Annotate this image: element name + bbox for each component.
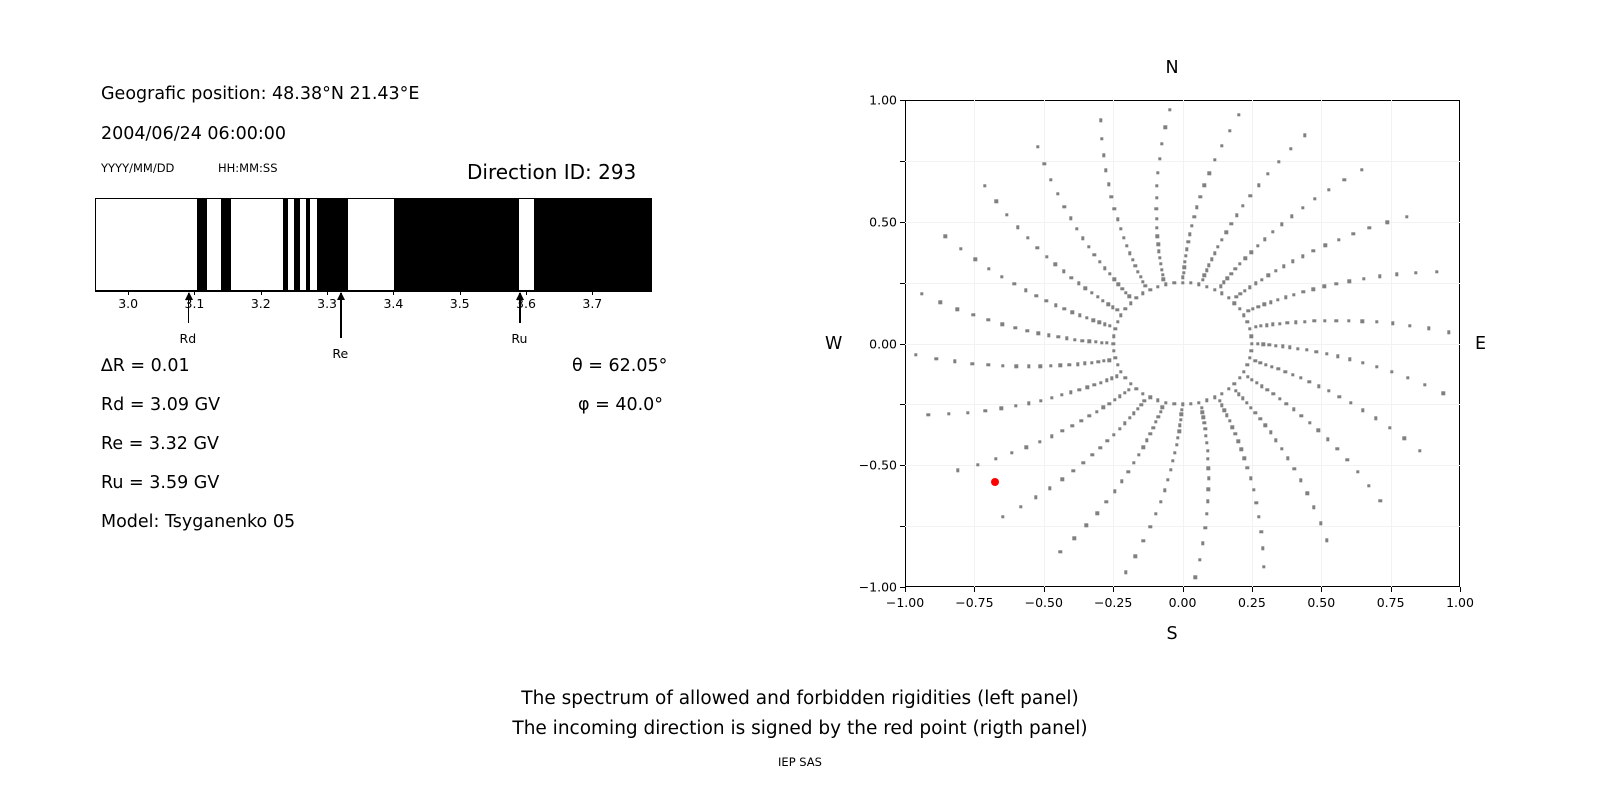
scatter-dot xyxy=(1105,379,1108,382)
scatter-dot xyxy=(1099,381,1102,384)
scatter-dot xyxy=(1127,470,1130,473)
scatter-dot xyxy=(1235,295,1238,298)
scatter-dot xyxy=(1125,244,1128,247)
scatter-dot xyxy=(1254,325,1257,328)
scatter-dot xyxy=(1278,397,1281,400)
scatter-dot xyxy=(966,411,969,414)
scatter-dot xyxy=(1100,341,1103,344)
scatter-dot xyxy=(1099,119,1102,122)
time-format-hint: HH:MM:SS xyxy=(218,161,278,175)
scatter-dot xyxy=(1142,539,1145,542)
scatter-dot xyxy=(1289,147,1292,150)
scatter-dot xyxy=(1143,284,1146,287)
scatter-dot xyxy=(1087,245,1090,248)
scatter-dot xyxy=(1281,345,1284,348)
scatter-dot xyxy=(1076,362,1079,365)
scatter-dot xyxy=(1124,307,1127,310)
scatter-dot xyxy=(1327,188,1330,191)
scatter-dot xyxy=(1164,126,1167,129)
scatter-dot xyxy=(1296,347,1299,350)
scatter-dot xyxy=(1338,395,1341,398)
compass-label-north: N xyxy=(1165,58,1178,78)
scatter-dot xyxy=(1136,407,1139,410)
scatter-dot xyxy=(1244,256,1247,259)
scatter-dot xyxy=(1106,439,1109,442)
forbidden-band xyxy=(294,199,301,290)
scatter-dot xyxy=(1103,323,1106,326)
scatter-dot xyxy=(1262,565,1265,568)
scatter-dot xyxy=(1070,276,1073,279)
scatter-dot xyxy=(1406,376,1409,379)
scatter-dot xyxy=(1202,416,1205,419)
scatter-dot xyxy=(1336,355,1339,358)
scatter-dot xyxy=(1039,365,1042,368)
scatter-dot xyxy=(1334,319,1337,322)
scatter-dot xyxy=(1227,296,1230,299)
scatter-dot xyxy=(1184,254,1187,257)
scatter-dot xyxy=(1128,295,1131,298)
scatter-dot xyxy=(1213,288,1216,291)
scatter-dot xyxy=(1161,273,1164,276)
scatter-dot xyxy=(1231,425,1234,428)
scatter-dot xyxy=(1154,420,1157,423)
scatter-dot xyxy=(1084,287,1087,290)
scatter-dot xyxy=(1335,282,1338,285)
scatter-dot xyxy=(1132,412,1135,415)
scatter-dot xyxy=(1037,331,1040,334)
scatter-dot xyxy=(1155,207,1158,210)
scatter-dot xyxy=(1260,384,1263,387)
scatter-dot xyxy=(1360,168,1363,171)
scatter-dot xyxy=(1095,512,1098,515)
scatter-dot xyxy=(1265,323,1268,326)
scatter-dot xyxy=(1201,541,1204,544)
scatter-dot xyxy=(1121,287,1124,290)
scatter-dot xyxy=(1145,438,1148,441)
scatter-dot xyxy=(1096,295,1099,298)
caption-line-1: The spectrum of allowed and forbidden ri… xyxy=(0,688,1600,709)
scatter-dot xyxy=(1098,260,1101,263)
scatter-dot xyxy=(1047,334,1050,337)
scatter-dot xyxy=(1312,506,1315,509)
scatter-dot xyxy=(1303,320,1306,323)
scatter-dot xyxy=(1228,129,1231,132)
scatter-dot xyxy=(1234,267,1237,270)
scatter-dot xyxy=(1220,144,1223,147)
scatter-dot xyxy=(1258,417,1261,420)
scatter-dot xyxy=(987,318,990,321)
y-axis-tick xyxy=(900,526,905,527)
scatter-dot xyxy=(1246,375,1249,378)
scatter-dot xyxy=(1220,238,1223,241)
scatter-dot xyxy=(1343,178,1346,181)
scatter-dot xyxy=(1201,278,1204,281)
y-axis-tick xyxy=(900,222,905,223)
scatter-dot xyxy=(1249,477,1252,480)
axis-tick-label: 3.2 xyxy=(251,296,271,311)
scatter-dot xyxy=(1094,340,1097,343)
scatter-dot xyxy=(1095,410,1098,413)
scatter-dot xyxy=(1139,403,1142,406)
scatter-dot xyxy=(1274,344,1277,347)
scatter-dot xyxy=(1013,282,1016,285)
scatter-dot xyxy=(1112,278,1115,281)
scatter-dot xyxy=(1198,558,1201,561)
scatter-dot xyxy=(1207,488,1210,491)
scatter-dot xyxy=(1169,468,1172,471)
scatter-dot xyxy=(1257,515,1260,518)
scatter-dot xyxy=(1173,451,1176,454)
scatter-dot xyxy=(943,235,946,238)
scatter-dot xyxy=(1263,237,1266,240)
scatter-dot xyxy=(1158,157,1161,160)
scatter-dot xyxy=(1156,243,1159,246)
scatter-dot xyxy=(1049,178,1052,181)
marker-arrow-ru xyxy=(519,293,520,323)
scatter-dot xyxy=(1081,339,1084,342)
scatter-dot xyxy=(1014,404,1017,407)
scatter-dot xyxy=(1367,484,1370,487)
scatter-dot xyxy=(1178,424,1181,427)
scatter-dot xyxy=(1128,416,1131,419)
scatter-dot xyxy=(1155,184,1158,187)
param-model: Model: Tsyganenko 05 xyxy=(101,512,295,532)
scatter-dot xyxy=(1128,251,1131,254)
scatter-dot xyxy=(1276,298,1279,301)
incoming-direction-point[interactable] xyxy=(991,478,999,486)
scatter-dot xyxy=(1385,221,1388,224)
scatter-dot xyxy=(1250,342,1253,345)
scatter-dot xyxy=(1346,458,1349,461)
scatter-dot xyxy=(1264,363,1267,366)
scatter-dot xyxy=(1378,275,1381,278)
scatter-dot xyxy=(1207,477,1210,480)
scatter-dot xyxy=(938,300,941,303)
scatter-dot xyxy=(1088,414,1091,417)
scatter-dot xyxy=(1206,499,1209,502)
scatter-dot xyxy=(1136,270,1139,273)
param-phi: φ = 40.0° xyxy=(578,395,663,415)
scatter-dot xyxy=(1081,236,1084,239)
scatter-dot xyxy=(1239,292,1242,295)
scatter-dot xyxy=(1048,486,1051,489)
scatter-dot xyxy=(1180,413,1183,416)
scatter-dot xyxy=(1080,419,1083,422)
scatter-dot xyxy=(1112,334,1115,337)
scatter-dot xyxy=(1268,343,1271,346)
axis-tick-label: 3.5 xyxy=(450,296,470,311)
scatter-dot xyxy=(1093,383,1096,386)
x-axis-tick-label: −0.25 xyxy=(1094,595,1132,610)
scatter-dot xyxy=(1085,524,1088,527)
scatter-dot xyxy=(1005,213,1008,216)
scatter-dot xyxy=(1141,392,1144,395)
scatter-dot xyxy=(1348,279,1351,282)
scatter-dot xyxy=(1278,322,1281,325)
scatter-dot xyxy=(1075,227,1078,230)
scatter-dot xyxy=(1155,217,1158,220)
y-axis-tick xyxy=(900,161,905,162)
scatter-dot xyxy=(1277,367,1280,370)
scatter-dot xyxy=(1045,255,1048,258)
scatter-dot xyxy=(1112,433,1115,436)
scatter-dot xyxy=(1246,466,1249,469)
scatter-dot xyxy=(1073,537,1076,540)
scatter-dot xyxy=(1283,370,1286,373)
scatter-dot xyxy=(1185,247,1188,250)
scatter-dot xyxy=(1108,324,1111,327)
scatter-dot xyxy=(1197,283,1200,286)
scatter-dot xyxy=(1078,388,1081,391)
scatter-dot xyxy=(1093,253,1096,256)
scatter-dot xyxy=(1391,322,1394,325)
scatter-dot xyxy=(1322,285,1325,288)
scatter-dot xyxy=(1134,264,1137,267)
scatter-dot xyxy=(1127,388,1130,391)
scatter-dot xyxy=(1172,402,1175,405)
scatter-dot xyxy=(927,413,930,416)
scatter-dot xyxy=(1246,320,1249,323)
scatter-dot xyxy=(1039,399,1042,402)
scatter-dot xyxy=(1097,360,1100,363)
scatter-dot xyxy=(1085,386,1088,389)
scatter-dot xyxy=(1158,256,1161,259)
forbidden-band xyxy=(317,199,348,290)
compass-label-west: W xyxy=(825,334,842,354)
x-axis-tick-label: 0.50 xyxy=(1307,595,1335,610)
scatter-dot xyxy=(1155,196,1158,199)
rigidity-axis: 3.03.13.23.33.43.53.63.7RdReRu xyxy=(95,291,652,351)
y-axis-tick xyxy=(900,100,905,101)
scatter-dot xyxy=(1188,233,1191,236)
scatter-dot xyxy=(1206,457,1209,460)
scatter-dot xyxy=(1090,361,1093,364)
scatter-dot xyxy=(1250,334,1253,337)
scatter-dot xyxy=(1152,426,1155,429)
scatter-dot xyxy=(1257,183,1260,186)
scatter-dot xyxy=(914,353,917,356)
scatter-dot xyxy=(1156,399,1159,402)
scatter-dot xyxy=(1122,236,1125,239)
scatter-dot xyxy=(1078,314,1081,317)
scatter-dot xyxy=(1175,443,1178,446)
scatter-dot xyxy=(1313,319,1316,322)
scatter-dot xyxy=(1315,350,1318,353)
scatter-dot xyxy=(1226,277,1229,280)
scatter-dot xyxy=(1218,399,1221,402)
scatter-dot xyxy=(1172,281,1175,284)
asymptotic-direction-chart: −1.00−0.500.000.501.00−1.00−0.75−0.50−0.… xyxy=(905,100,1460,587)
scatter-dot xyxy=(1272,392,1275,395)
x-axis-tick xyxy=(1252,587,1253,592)
scatter-dot xyxy=(1000,275,1003,278)
scatter-dot xyxy=(1403,437,1406,440)
forbidden-band xyxy=(197,199,207,290)
scatter-dot xyxy=(1260,278,1263,281)
scatter-dot xyxy=(1266,388,1269,391)
scatter-dot xyxy=(1010,451,1013,454)
scatter-dot xyxy=(1233,382,1236,385)
scatter-dot xyxy=(1349,401,1352,404)
scatter-dot xyxy=(1149,288,1152,291)
scatter-dot xyxy=(1323,319,1326,322)
scatter-dot xyxy=(1228,419,1231,422)
y-axis-tick-label: 0.00 xyxy=(869,336,897,351)
scatter-dot xyxy=(1206,449,1209,452)
scatter-dot xyxy=(1200,406,1203,409)
scatter-dot xyxy=(1190,224,1193,227)
scatter-dot xyxy=(1141,446,1144,449)
scatter-dot xyxy=(1068,363,1071,366)
spectrum-band-track xyxy=(95,198,652,291)
scatter-dot xyxy=(1026,329,1029,332)
scatter-dot xyxy=(1102,359,1105,362)
scatter-dot xyxy=(1062,205,1065,208)
scatter-dot xyxy=(1255,501,1258,504)
x-axis-tick xyxy=(905,587,906,592)
scatter-dot xyxy=(1220,292,1223,295)
scatter-dot xyxy=(1132,461,1135,464)
scatter-dot xyxy=(1105,341,1108,344)
scatter-dot xyxy=(973,258,976,261)
scatter-dot xyxy=(1088,340,1091,343)
scatter-dot xyxy=(1233,301,1236,304)
scatter-dot xyxy=(1071,311,1074,314)
axis-tick-label: 3.0 xyxy=(118,296,138,311)
scatter-dot xyxy=(1001,515,1004,518)
scatter-dot xyxy=(1181,403,1184,406)
scatter-dot xyxy=(1267,274,1270,277)
scatter-dot xyxy=(1085,316,1088,319)
y-axis-tick xyxy=(900,404,905,405)
scatter-dot xyxy=(1014,326,1017,329)
geographic-position-text: Geografic position: 48.38°N 21.43°E xyxy=(101,84,419,104)
scatter-dot xyxy=(1306,492,1309,495)
scatter-dot xyxy=(1259,530,1262,533)
scatter-dot xyxy=(1388,426,1391,429)
scatter-dot xyxy=(1105,500,1108,503)
scatter-dot xyxy=(1091,319,1094,322)
param-delta-r: ∆R = 0.01 xyxy=(101,356,190,376)
scatter-dot xyxy=(1111,342,1114,345)
x-axis-tick-label: 1.00 xyxy=(1446,595,1474,610)
scatter-dot xyxy=(1149,432,1152,435)
scatter-dot xyxy=(1262,343,1265,346)
scatter-dot xyxy=(1305,348,1308,351)
scatter-dot xyxy=(1362,277,1365,280)
footer-text: IEP SAS xyxy=(0,755,1600,769)
scatter-dot xyxy=(1312,249,1315,252)
scatter-dot xyxy=(1277,160,1280,163)
scatter-dot xyxy=(1197,401,1200,404)
x-axis-tick xyxy=(1321,587,1322,592)
forbidden-band xyxy=(306,199,310,290)
scatter-dot xyxy=(1116,363,1119,366)
scatter-dot xyxy=(1038,440,1041,443)
scatter-dot xyxy=(1225,414,1228,417)
scatter-dot xyxy=(1043,162,1046,165)
scatter-dot xyxy=(1119,314,1122,317)
rigidity-spectrum-chart xyxy=(95,198,652,291)
scatter-dot xyxy=(1294,320,1297,323)
scatter-dot xyxy=(1203,273,1206,276)
scatter-dot xyxy=(1271,230,1274,233)
scatter-dot xyxy=(1113,489,1116,492)
scatter-dot xyxy=(1408,324,1411,327)
scatter-dot xyxy=(1319,521,1322,524)
scatter-dot xyxy=(1090,291,1093,294)
forbidden-band xyxy=(283,199,288,290)
scatter-dot xyxy=(1237,440,1240,443)
scatter-dot xyxy=(1263,424,1266,427)
scatter-dot xyxy=(1204,526,1207,529)
x-axis-tick-label: 0.25 xyxy=(1238,595,1266,610)
scatter-dot xyxy=(1049,364,1052,367)
scatter-dot xyxy=(1199,195,1202,198)
scatter-dot xyxy=(1300,414,1303,417)
scatter-dot xyxy=(1071,424,1074,427)
scatter-dot xyxy=(1291,260,1294,263)
scatter-dot xyxy=(1351,232,1354,235)
scatter-dot xyxy=(976,463,979,466)
scatter-dot xyxy=(1299,479,1302,482)
scatter-dot xyxy=(1442,391,1445,394)
scatter-dot xyxy=(1162,278,1165,281)
scatter-dot xyxy=(1299,376,1302,379)
x-axis-tick xyxy=(974,587,975,592)
scatter-dot xyxy=(1405,215,1408,218)
scatter-dot xyxy=(1161,406,1164,409)
y-axis-tick-label: −1.00 xyxy=(859,580,897,595)
scatter-dot xyxy=(1274,438,1277,441)
scatter-dot xyxy=(1263,303,1266,306)
scatter-dot xyxy=(1418,449,1421,452)
scatter-dot xyxy=(1103,266,1106,269)
scatter-dot xyxy=(1163,488,1166,491)
scatter-dot xyxy=(1115,375,1118,378)
scatter-dot xyxy=(983,184,986,187)
scatter-dot xyxy=(1293,467,1296,470)
scatter-dot xyxy=(1139,275,1142,278)
axis-tick xyxy=(194,291,195,295)
scatter-dot xyxy=(1205,441,1208,444)
scatter-dot xyxy=(1237,113,1240,116)
scatter-dot xyxy=(1001,364,1004,367)
scatter-dot xyxy=(1179,418,1182,421)
scatter-dot xyxy=(1181,276,1184,279)
x-axis-tick-label: −0.50 xyxy=(1025,595,1063,610)
scatter-dot xyxy=(1119,370,1122,373)
scatter-dot xyxy=(1280,223,1283,226)
scatter-dot xyxy=(971,362,974,365)
scatter-dot xyxy=(1414,271,1417,274)
scatter-dot xyxy=(1164,283,1167,286)
axis-tick xyxy=(592,291,593,295)
scatter-dot xyxy=(1203,184,1206,187)
scatter-dot xyxy=(1238,262,1241,265)
compass-label-south: S xyxy=(1166,624,1177,644)
scatter-dot xyxy=(1290,215,1293,218)
scatter-dot xyxy=(1368,226,1371,229)
scatter-dot xyxy=(972,313,975,316)
scatter-dot xyxy=(1223,408,1226,411)
scatter-dot xyxy=(1171,459,1174,462)
scatter-dot xyxy=(1106,302,1109,305)
scatter-dot xyxy=(1378,499,1381,502)
x-axis-tick-label: 0.75 xyxy=(1377,595,1405,610)
scatter-dot xyxy=(1308,421,1311,424)
scatter-dot xyxy=(1249,251,1252,254)
